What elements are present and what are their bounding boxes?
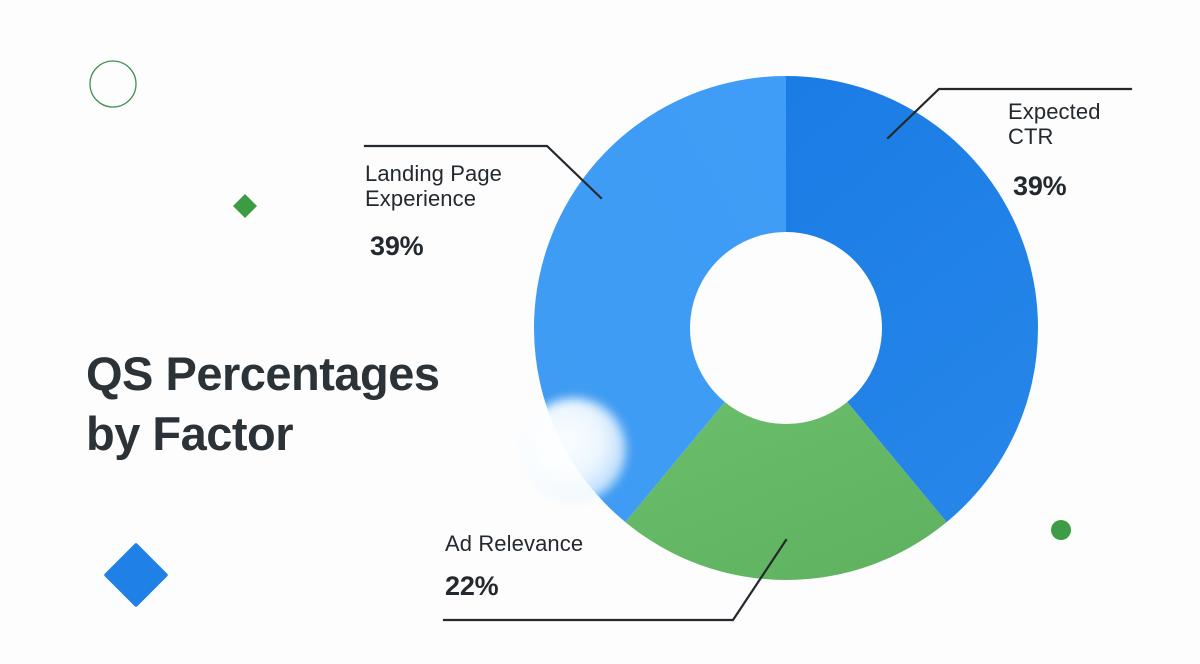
callout-percent-expected-ctr: 39% (1013, 171, 1178, 202)
callout-label-ad-relevance: Ad Relevance (445, 532, 705, 557)
callout-ad-relevance: Ad Relevance 22% (445, 532, 705, 602)
callout-landing-page-experience: Landing Page Experience 39% (365, 162, 595, 262)
page-title: QS Percentages by Factor (86, 344, 506, 464)
large-diamond-decoration (103, 542, 168, 607)
infographic-canvas: QS Percentages by Factor Landing Page Ex… (0, 0, 1200, 664)
circle-outline-decoration (90, 61, 136, 107)
callout-percent-ad-relevance: 22% (445, 571, 705, 602)
callout-label-expected-ctr: Expected CTR (1008, 100, 1178, 149)
callout-expected-ctr: Expected CTR 39% (1008, 100, 1178, 202)
small-diamond-decoration (233, 194, 257, 218)
solid-dot-decoration (1051, 520, 1071, 540)
callout-percent-landing-page-experience: 39% (370, 231, 595, 262)
callout-label-landing-page-experience: Landing Page Experience (365, 162, 595, 211)
